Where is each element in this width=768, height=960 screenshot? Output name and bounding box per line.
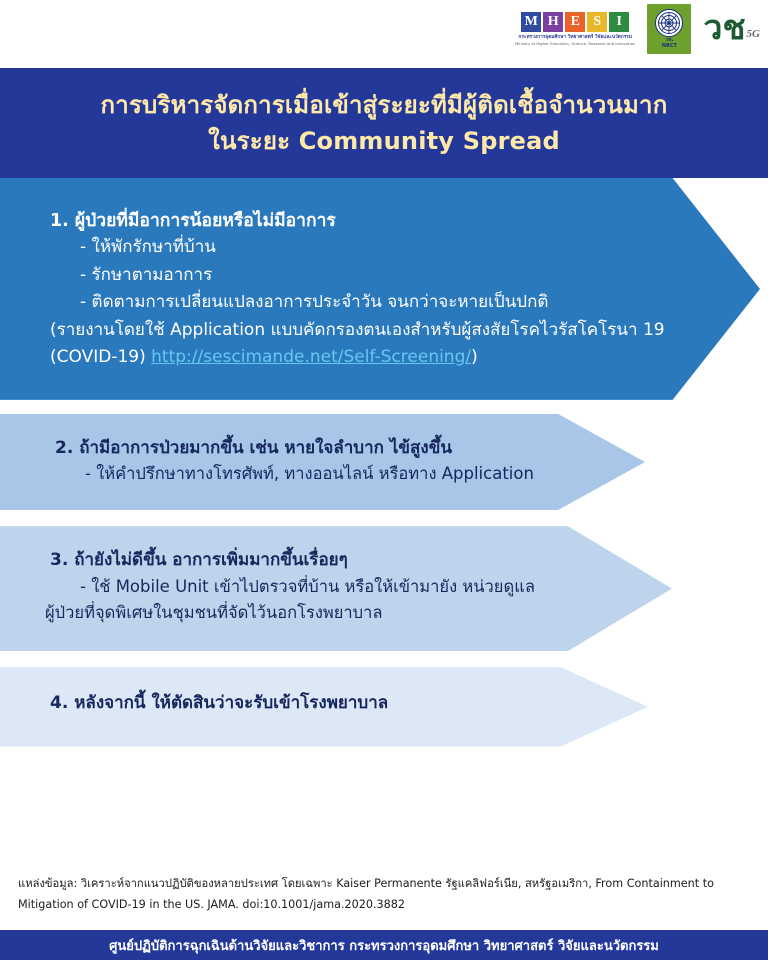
step-2-heading: 2. ถ้ามีอาการป่วยมากขึ้น เช่น หายใจลำบาก… <box>0 436 645 462</box>
wch-thai-mark: วช <box>703 15 745 42</box>
mhesi-english-name: Ministry of Higher Education, Science, R… <box>515 42 635 46</box>
step-1-line-1: - ให้พักรักษาที่บ้าน <box>0 234 760 262</box>
mhesi-letter-s: S <box>587 12 607 32</box>
step-1-heading: 1. ผู้ป่วยที่มีอาการน้อยหรือไม่มีอาการ <box>0 208 760 234</box>
step-1-note-close-paren: ) <box>471 347 478 367</box>
step-4-arrow: 4. หลังจากนี้ ให้ตัดสินว่าจะรับเข้าโรงพย… <box>0 667 768 747</box>
mhesi-thai-name: กระทรวงการอุดมศึกษา วิทยาศาสตร์ วิจัยและ… <box>518 34 632 41</box>
footer-text: ศูนย์ปฏิบัติการฉุกเฉินด้านวิจัยและวิชากา… <box>109 935 659 956</box>
step-1-line-3: - ติดตามการเปลี่ยนแปลงอาการประจำวัน จนกว… <box>0 289 760 317</box>
mhesi-logo: M H E S I กระทรวงการอุดมศึกษา วิทยาศาสตร… <box>515 12 635 46</box>
mhesi-letter-m: M <box>521 12 541 32</box>
logo-strip: M H E S I กระทรวงการอุดมศึกษา วิทยาศาสตร… <box>0 0 768 68</box>
infographic-page: M H E S I กระทรวงการอุดมศึกษา วิทยาศาสตร… <box>0 0 768 960</box>
wch-5g-label: 5G <box>747 28 760 43</box>
source-line-2: Mitigation of COVID-19 in the US. JAMA. … <box>18 895 754 916</box>
source-note: แหล่งข้อมูล: วิเคราะห์จากแนวปฏิบัติของหล… <box>18 874 754 915</box>
step-1-shape: 1. ผู้ป่วยที่มีอาการน้อยหรือไม่มีอาการ -… <box>0 178 760 400</box>
step-2-arrow: 2. ถ้ามีอาการป่วยมากขึ้น เช่น หายใจลำบาก… <box>0 414 768 510</box>
step-3-shape: 3. ถ้ายังไม่ดีขึ้น อาการเพิ่มมากขึ้นเรื่… <box>0 526 672 651</box>
step-3-heading: 3. ถ้ายังไม่ดีขึ้น อาการเพิ่มมากขึ้นเรื่… <box>0 548 672 574</box>
title-line-2: ในระยะ Community Spread <box>208 126 560 156</box>
step-2-line-1: - ให้คำปรึกษาทางโทรศัพท์, ทางออนไลน์ หรื… <box>0 461 645 488</box>
step-3-arrow: 3. ถ้ายังไม่ดีขึ้น อาการเพิ่มมากขึ้นเรื่… <box>0 526 768 651</box>
wch-5g-logo: วช 5G <box>703 15 760 42</box>
mhesi-letter-i: I <box>609 12 629 32</box>
nrct-english-abbr: NRCT <box>662 44 677 49</box>
step-4-shape: 4. หลังจากนี้ ให้ตัดสินว่าจะรับเข้าโรงพย… <box>0 667 648 747</box>
step-1-note-line-2: (COVID-19) http://sescimande.net/Self-Sc… <box>0 344 760 372</box>
logo-group: M H E S I กระทรวงการอุดมศึกษา วิทยาศาสตร… <box>515 4 760 54</box>
step-3-line-1: - ใช้ Mobile Unit เข้าไปตรวจที่บ้าน หรือ… <box>0 574 672 601</box>
source-line-1: แหล่งข้อมูล: วิเคราะห์จากแนวปฏิบัติของหล… <box>18 874 754 895</box>
mhesi-letter-blocks: M H E S I <box>521 12 629 32</box>
step-1-note-line-1: (รายงานโดยใช้ Application แบบคัดกรองตนเอ… <box>0 317 760 345</box>
mhesi-letter-h: H <box>543 12 563 32</box>
title-line-1: การบริหารจัดการเมื่อเข้าสู่ระยะที่มีผู้ต… <box>101 90 668 120</box>
footer-bar: ศูนย์ปฏิบัติการฉุกเฉินด้านวิจัยและวิชากา… <box>0 930 768 960</box>
step-1-line-2: - รักษาตามอาการ <box>0 262 760 290</box>
self-screening-link[interactable]: http://sescimande.net/Self-Screening/ <box>151 347 471 367</box>
title-banner: การบริหารจัดการเมื่อเข้าสู่ระยะที่มีผู้ต… <box>0 68 768 178</box>
step-4-heading: 4. หลังจากนี้ ให้ตัดสินว่าจะรับเข้าโรงพย… <box>0 691 648 717</box>
step-1-covid-label: (COVID-19) <box>50 347 151 367</box>
nrct-logo: วช. NRCT <box>647 4 691 54</box>
step-1-arrow: 1. ผู้ป่วยที่มีอาการน้อยหรือไม่มีอาการ -… <box>0 178 768 400</box>
steps-container: 1. ผู้ป่วยที่มีอาการน้อยหรือไม่มีอาการ -… <box>0 178 768 747</box>
step-2-shape: 2. ถ้ามีอาการป่วยมากขึ้น เช่น หายใจลำบาก… <box>0 414 645 510</box>
nrct-emblem-icon <box>655 9 683 37</box>
mhesi-letter-e: E <box>565 12 585 32</box>
step-3-line-2: ผู้ป่วยที่จุดพิเศษในชุมชนที่จัดไว้นอกโรง… <box>0 600 672 627</box>
